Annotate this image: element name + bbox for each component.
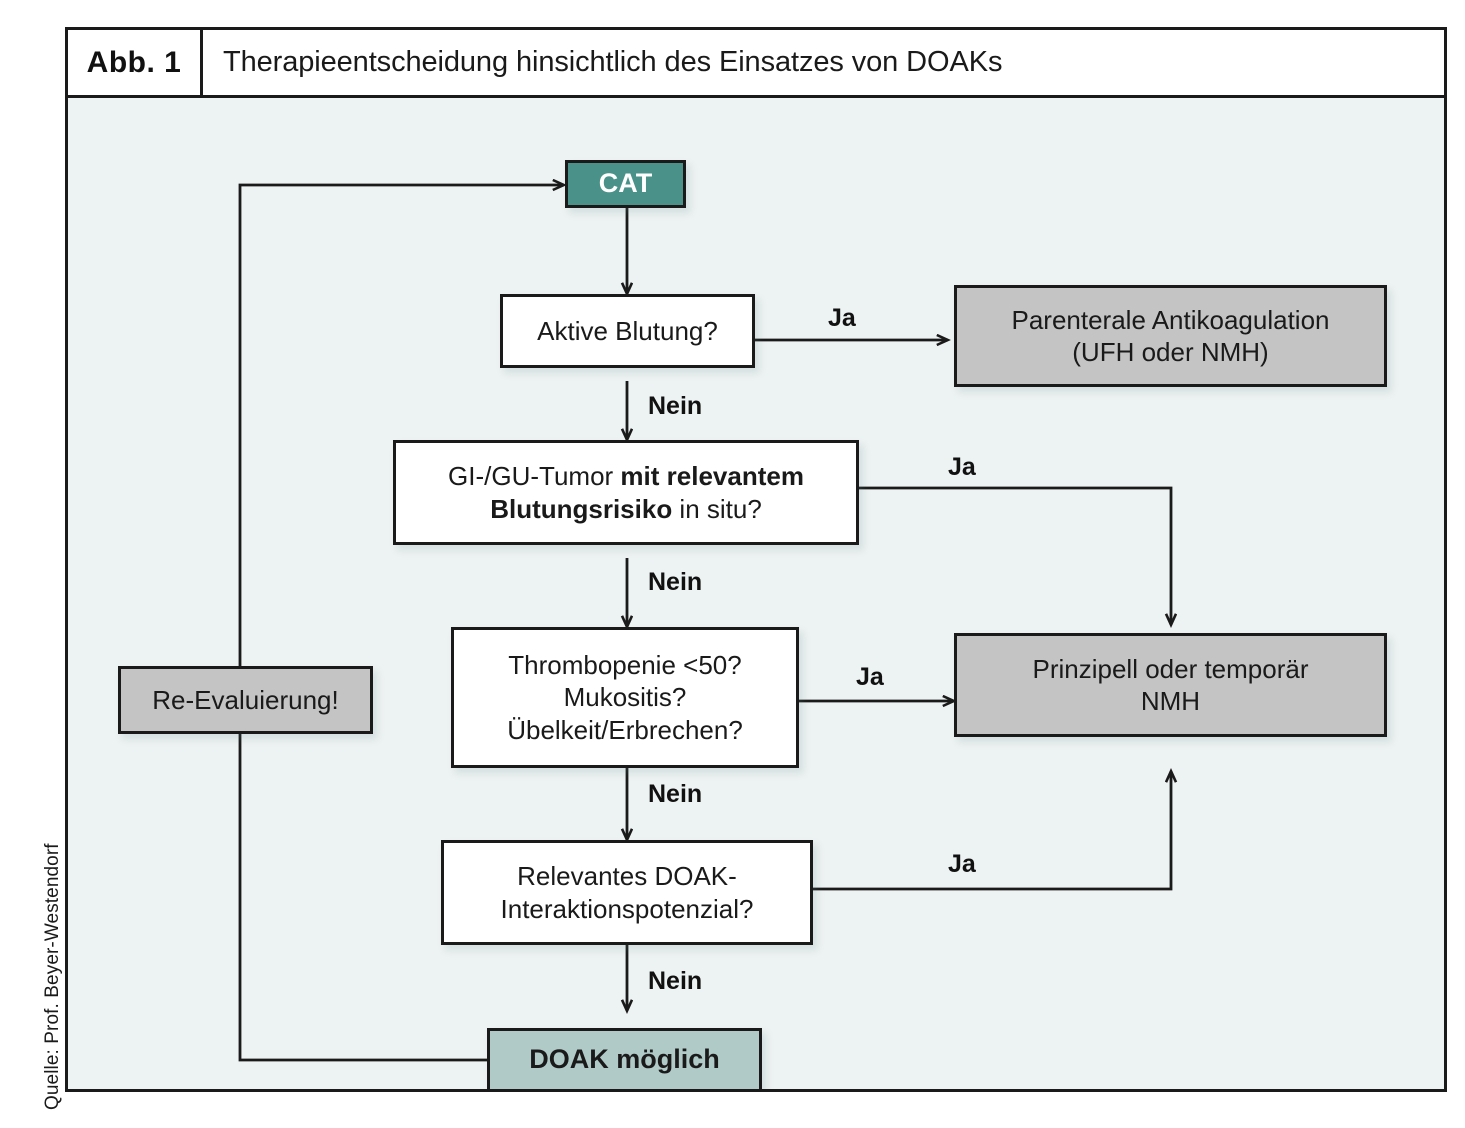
edge-interaktion-ja (813, 771, 1171, 889)
node-gi-gu-part3: in situ? (672, 494, 762, 524)
edge-label-ja-interaktion: Ja (948, 850, 976, 879)
node-thrombopenie-line3: Übelkeit/Erbrechen? (507, 715, 743, 745)
node-nmh-line2: NMH (1141, 686, 1200, 716)
node-doak-interaktion[interactable]: Relevantes DOAK- Interaktionspotenzial? (441, 840, 813, 945)
node-doak-moeglich[interactable]: DOAK möglich (487, 1028, 762, 1089)
figure-header: Abb. 1 Therapieentscheidung hinsichtlich… (68, 30, 1444, 98)
edge-label-nein-blutung: Nein (648, 392, 702, 421)
edge-label-nein-tumor: Nein (648, 568, 702, 597)
figure-number-label: Abb. 1 (68, 30, 203, 95)
edge-label-ja-tumor: Ja (948, 453, 976, 482)
figure-title: Therapieentscheidung hinsichtlich des Ei… (203, 46, 1002, 79)
node-thrombopenie-text: Thrombopenie <50? Mukositis? Übelkeit/Er… (497, 647, 753, 748)
edge-label-nein-interaktion: Nein (648, 967, 702, 996)
node-cat-label: CAT (589, 165, 663, 202)
edge-label-ja-thrombopenie: Ja (856, 663, 884, 692)
edge-tumor-ja (859, 488, 1171, 625)
node-parenterale-antikoagulation[interactable]: Parenterale Antikoagulation (UFH oder NM… (954, 285, 1387, 387)
node-gi-gu-tumor-text: GI-/GU-Tumor mit relevantem Blutungsrisi… (396, 458, 856, 526)
node-gi-gu-tumor[interactable]: GI-/GU-Tumor mit relevantem Blutungsrisi… (393, 440, 859, 545)
node-thrombopenie-line1: Thrombopenie <50? (508, 650, 741, 680)
node-re-evaluierung[interactable]: Re-Evaluierung! (118, 666, 373, 734)
figure-root: Quelle: Prof. Beyer-Westendorf Abb. 1 Th… (0, 0, 1465, 1128)
node-re-evaluierung-label: Re-Evaluierung! (142, 682, 348, 718)
node-thrombopenie-line2: Mukositis? (564, 682, 687, 712)
node-doak-interaktion-line2: Interaktionspotenzial? (501, 894, 754, 924)
node-nmh[interactable]: Prinzipell oder temporär NMH (954, 633, 1387, 737)
edge-label-ja-blutung: Ja (828, 304, 856, 333)
figure-frame: Abb. 1 Therapieentscheidung hinsichtlich… (65, 27, 1447, 1092)
diagram-canvas: CAT Aktive Blutung? Parenterale Antikoag… (68, 98, 1444, 1089)
node-nmh-text: Prinzipell oder temporär NMH (1022, 651, 1318, 719)
node-doak-interaktion-line1: Relevantes DOAK- (517, 861, 737, 891)
node-cat[interactable]: CAT (565, 160, 686, 208)
node-parenterale-line2: (UFH oder NMH) (1072, 337, 1268, 367)
node-doak-interaktion-text: Relevantes DOAK- Interaktionspotenzial? (491, 858, 764, 926)
node-nmh-line1: Prinzipell oder temporär (1032, 654, 1308, 684)
node-aktive-blutung-label: Aktive Blutung? (527, 313, 728, 349)
node-aktive-blutung[interactable]: Aktive Blutung? (500, 294, 755, 368)
node-gi-gu-part1: GI-/GU-Tumor (448, 461, 620, 491)
node-thrombopenie[interactable]: Thrombopenie <50? Mukositis? Übelkeit/Er… (451, 627, 799, 768)
source-caption: Quelle: Prof. Beyer-Westendorf (40, 750, 66, 1110)
node-doak-moeglich-label: DOAK möglich (519, 1041, 730, 1078)
edge-label-nein-thrombopenie: Nein (648, 780, 702, 809)
node-parenterale-line1: Parenterale Antikoagulation (1011, 305, 1329, 335)
node-parenterale-text: Parenterale Antikoagulation (UFH oder NM… (1001, 302, 1339, 370)
